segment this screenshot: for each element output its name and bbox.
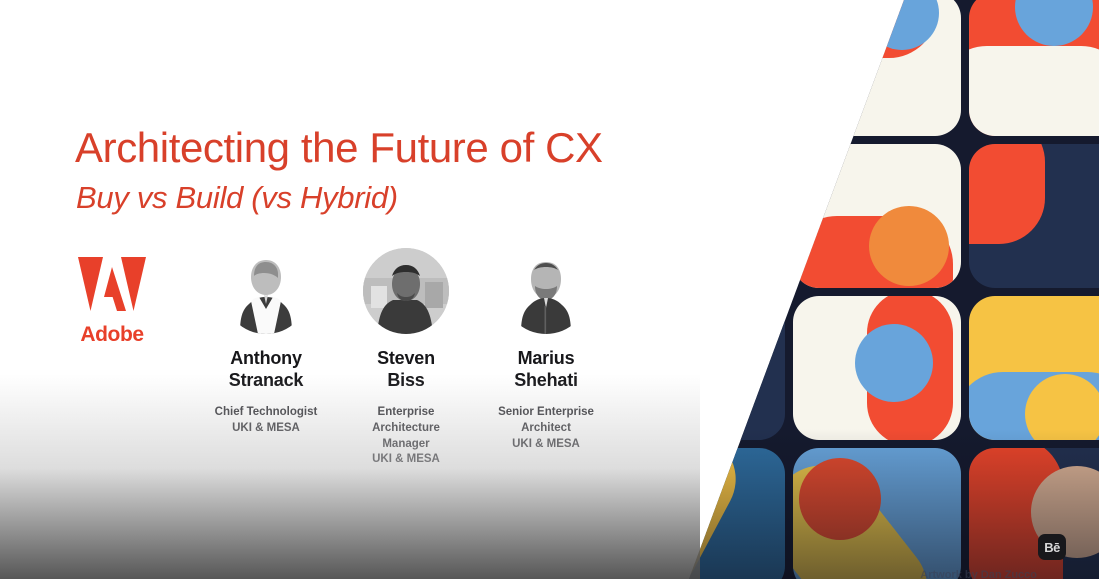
avatar xyxy=(363,248,449,334)
speaker-card: Marius Shehati Senior Enterprise Archite… xyxy=(476,248,616,452)
art-shape-pill xyxy=(617,12,639,136)
art-tile xyxy=(793,0,961,136)
adobe-wordmark: Adobe xyxy=(76,323,148,347)
speaker-role-line: UKI & MESA xyxy=(196,421,336,437)
art-shape-circle xyxy=(799,458,881,540)
speaker-role: Enterprise Architecture Manager UKI & ME… xyxy=(336,405,476,468)
adobe-a-logo-icon xyxy=(76,255,148,319)
speaker-name: Marius Shehati xyxy=(476,348,616,392)
speaker-name-line: Anthony xyxy=(196,348,336,370)
speaker-name-line: Stranack xyxy=(196,370,336,392)
speaker-role: Chief Technologist UKI & MESA xyxy=(196,405,336,437)
page-subtitle: Buy vs Build (vs Hybrid) xyxy=(76,180,398,216)
tile-grid xyxy=(617,0,1099,579)
speaker-name: Steven Biss xyxy=(336,348,476,392)
speaker-card: Steven Biss Enterprise Architecture Mana… xyxy=(336,248,476,468)
headshot-avatar-icon xyxy=(503,248,589,334)
art-tile xyxy=(617,144,785,288)
speaker-role-line: UKI & MESA xyxy=(476,437,616,453)
behance-icon[interactable]: Bē xyxy=(1038,534,1066,560)
speaker-card: Anthony Stranack Chief Technologist UKI … xyxy=(196,248,336,437)
speaker-name: Anthony Stranack xyxy=(196,348,336,392)
art-shape-circle xyxy=(865,0,939,50)
decorative-artwork-panel: Artwork by Dan Zucco xyxy=(659,0,1099,579)
presentation-slide: Artwork by Dan Zucco Bē Architecting the… xyxy=(0,0,1099,579)
adobe-logo: Adobe xyxy=(76,255,154,347)
art-shape-circle xyxy=(869,206,949,286)
art-tile xyxy=(969,144,1099,288)
art-shape-pill xyxy=(969,46,1099,136)
page-title: Architecting the Future of CX xyxy=(75,124,603,172)
headshot-avatar-icon xyxy=(223,248,309,334)
art-shape-pill xyxy=(617,296,707,386)
speaker-name-line: Biss xyxy=(336,370,476,392)
speaker-role-line: UKI & MESA xyxy=(336,452,476,468)
avatar xyxy=(223,248,309,334)
art-tile xyxy=(793,296,961,440)
avatar xyxy=(503,248,589,334)
speaker-role-line: Manager xyxy=(336,437,476,453)
art-shape-circle xyxy=(855,324,933,402)
art-tile xyxy=(793,144,961,288)
speaker-name-line: Shehati xyxy=(476,370,616,392)
speaker-role-line: Architect xyxy=(476,421,616,437)
art-shape-circle xyxy=(1015,0,1093,46)
speaker-role-line: Chief Technologist xyxy=(196,405,336,421)
art-shape-pill xyxy=(617,166,675,288)
art-shape-pill xyxy=(969,144,1045,244)
art-tile xyxy=(969,296,1099,440)
speaker-role: Senior Enterprise Architect UKI & MESA xyxy=(476,405,616,453)
art-shape-pill xyxy=(617,448,752,579)
speaker-name-line: Marius xyxy=(476,348,616,370)
art-tile xyxy=(617,0,785,136)
speakers-list: Anthony Stranack Chief Technologist UKI … xyxy=(196,248,616,468)
art-tile xyxy=(793,448,961,579)
art-tile xyxy=(617,296,785,440)
speaker-role-line: Senior Enterprise xyxy=(476,405,616,421)
speaker-role-line: Architecture xyxy=(336,421,476,437)
speaker-name-line: Steven xyxy=(336,348,476,370)
artwork-credit: Artwork by Dan Zucco xyxy=(920,569,1037,579)
art-tile xyxy=(617,448,785,579)
speaker-role-line: Enterprise xyxy=(336,405,476,421)
art-tile xyxy=(969,0,1099,136)
art-shape-pill xyxy=(617,400,707,440)
headshot-avatar-icon xyxy=(363,248,449,334)
art-tile xyxy=(969,448,1099,579)
